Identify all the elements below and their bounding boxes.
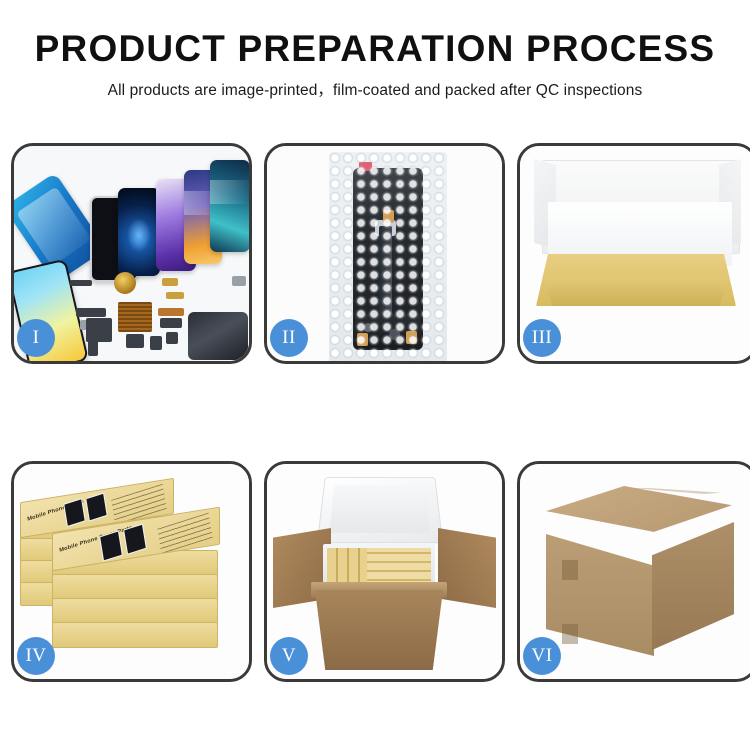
- box-phone-image-front-1: [99, 530, 123, 561]
- box-phone-image-back-2: [85, 493, 108, 522]
- part-coil: [114, 272, 136, 294]
- gold-contact-right: [406, 331, 417, 344]
- step-badge-3: III: [523, 319, 561, 357]
- carton-body: [315, 590, 443, 670]
- step-badge-4: IV: [17, 637, 55, 675]
- carton-tab-upper: [562, 560, 578, 580]
- page-subtitle: All products are image-printed，film-coat…: [0, 78, 750, 100]
- step-badge-6: VI: [523, 637, 561, 675]
- step-panel-1: I: [11, 143, 252, 364]
- gold-box-front-panel: [536, 278, 736, 306]
- step-panel-5: V: [264, 461, 505, 682]
- step-badge-5: V: [270, 637, 308, 675]
- process-steps-grid: I: [11, 143, 739, 682]
- step-panel-4: Mobile Phone Spare Parts Mobile Phone Sp…: [11, 461, 252, 682]
- page-title: PRODUCT PREPARATION PROCESS: [0, 30, 750, 69]
- step-panel-3: III: [517, 143, 750, 364]
- gold-contact-top: [383, 210, 394, 223]
- step-panel-6: VI: [517, 461, 750, 682]
- box-spec-lines-front: [157, 513, 212, 554]
- step-badge-2: II: [270, 319, 308, 357]
- dark-blue-phone-screen: [118, 188, 160, 276]
- part-flex-strip-1: [76, 308, 106, 317]
- flex-cable: [379, 226, 392, 318]
- part-back-housing: [188, 312, 248, 360]
- part-copper-flex: [158, 308, 184, 316]
- part-camera-module: [126, 334, 144, 348]
- part-circuit-board: [118, 302, 152, 332]
- step-panel-2: II: [264, 143, 505, 364]
- carton-tab-lower: [562, 624, 578, 644]
- bubble-wrap-bag: [329, 152, 447, 361]
- box-phone-image-front-2: [123, 524, 147, 555]
- part-flex-strip-3: [160, 318, 182, 328]
- box-body-front-3: [52, 598, 218, 624]
- pink-label-sticker: [359, 162, 372, 171]
- part-screw-set: [232, 276, 246, 286]
- part-button-set: [150, 336, 162, 350]
- foam-cooler-lid: [317, 477, 443, 543]
- phone-screen-assembly: [353, 168, 423, 350]
- step-badge-1: I: [17, 319, 55, 357]
- part-vibrator: [166, 332, 178, 344]
- box-body-front-2: [52, 574, 218, 600]
- carton-side-face: [652, 522, 734, 650]
- box-stack: Mobile Phone Spare Parts Mobile Phone Sp…: [20, 482, 248, 672]
- part-speaker-mesh: [70, 280, 92, 286]
- teal-phone-screen: [210, 160, 249, 252]
- spare-parts-group: [70, 272, 249, 361]
- page-header: PRODUCT PREPARATION PROCESS All products…: [0, 0, 750, 100]
- part-gold-flex-1: [162, 278, 178, 286]
- box-phone-image-back-1: [63, 498, 86, 527]
- part-gold-flex-2: [166, 292, 184, 299]
- product-preparation-page: PRODUCT PREPARATION PROCESS All products…: [0, 0, 750, 750]
- gold-contact-left: [357, 333, 368, 346]
- box-body-front-4: [52, 622, 218, 648]
- part-sim-tray: [88, 338, 98, 356]
